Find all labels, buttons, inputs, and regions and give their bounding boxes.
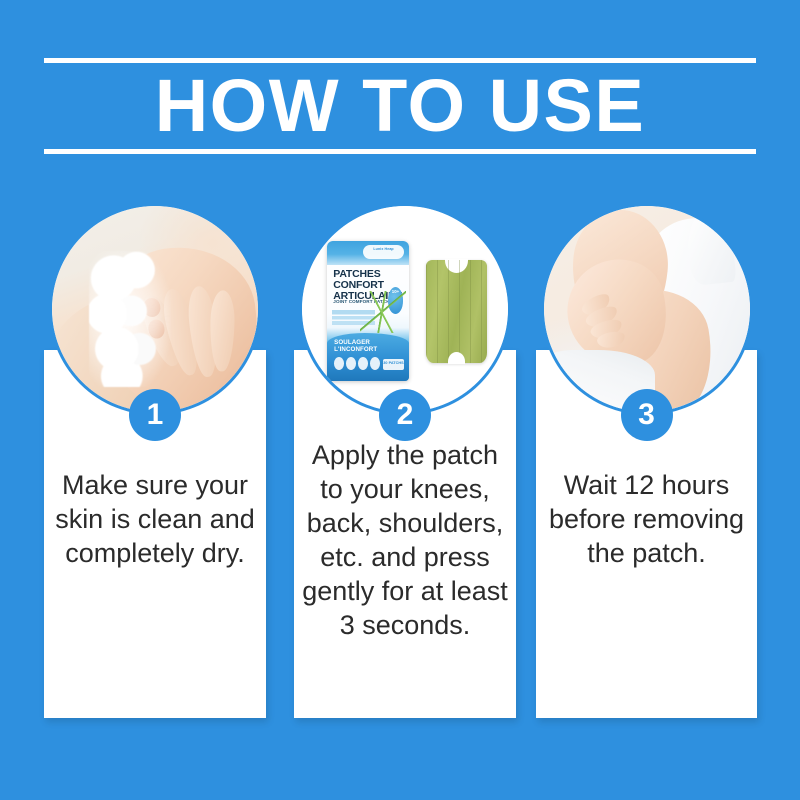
step-3-photo <box>541 203 753 415</box>
steps-row: Make sure your skin is clean and complet… <box>0 0 800 800</box>
pouch-quantity-label: 30 PATCHS <box>383 359 404 370</box>
step-card-2: Apply the patch to your knees, back, sho… <box>294 203 516 718</box>
product-pouch: Lunix Heap PATCHES CONFORT ARTICULAIRE J… <box>327 241 409 381</box>
infographic-page: HOW TO USE Make sure your skin is clean … <box>0 0 800 800</box>
step-1-photo <box>49 203 261 415</box>
pouch-icon-row <box>334 357 380 370</box>
pouch-feature-icon-1 <box>334 357 344 370</box>
step-2-text: Apply the patch to your knees, back, sho… <box>302 438 508 642</box>
step-2-number-badge: 2 <box>379 389 431 441</box>
step-1-text: Make sure your skin is clean and complet… <box>52 468 258 570</box>
soap-foam <box>89 251 171 387</box>
step-3-text: Wait 12 hours before removing the patch. <box>544 468 749 570</box>
step-card-1: Make sure your skin is clean and complet… <box>44 203 266 718</box>
step-2-photo: Lunix Heap PATCHES CONFORT ARTICULAIRE J… <box>299 203 511 415</box>
patch-texture <box>426 260 488 363</box>
step-card-3: Wait 12 hours before removing the patch. <box>536 203 757 718</box>
step-3-number-badge: 3 <box>621 389 673 441</box>
pouch-feature-icon-3 <box>358 357 368 370</box>
pouch-claim-line-1: SOULAGER <box>334 339 392 346</box>
pouch-claim: SOULAGER L'INCONFORT <box>334 339 392 353</box>
step-2-photo-inner: Lunix Heap PATCHES CONFORT ARTICULAIRE J… <box>302 206 508 412</box>
green-patch <box>426 260 488 363</box>
step-1-number-badge: 1 <box>129 389 181 441</box>
pouch-claim-line-2: L'INCONFORT <box>334 346 392 353</box>
brand-logo-text: Lunix Heap <box>364 247 404 251</box>
herb-leaf-graphic <box>360 291 406 333</box>
step-3-photo-inner <box>544 206 750 412</box>
pouch-feature-icon-2 <box>346 357 356 370</box>
step-1-photo-inner <box>52 206 258 412</box>
pouch-feature-icon-4 <box>370 357 380 370</box>
